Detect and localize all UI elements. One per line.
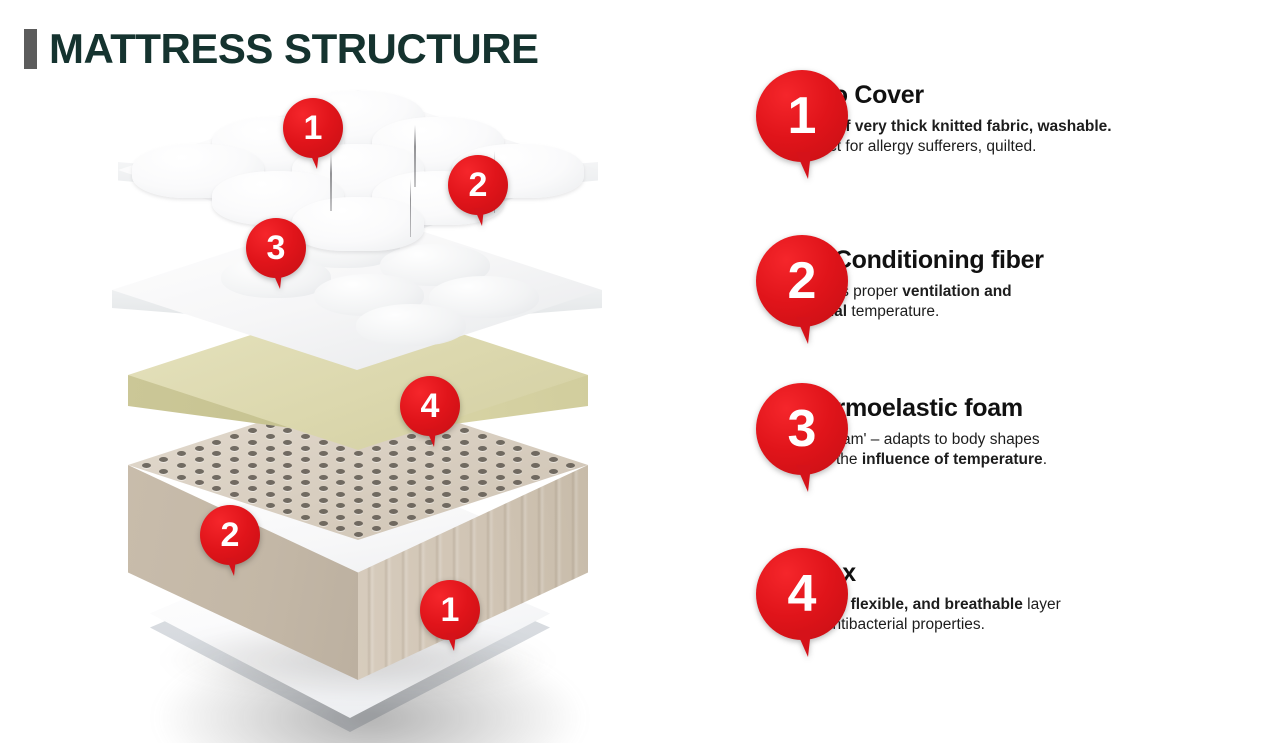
latex-hole <box>478 457 487 462</box>
layer-quilted-top <box>118 90 598 255</box>
latex-hole <box>301 457 310 462</box>
diagram-pin-4-label: 4 <box>421 389 440 423</box>
latex-hole <box>407 492 416 497</box>
latex-hole <box>478 492 487 497</box>
latex-hole <box>496 451 505 456</box>
latex-hole <box>425 486 434 491</box>
latex-hole <box>301 446 310 451</box>
diagram-pin-2-label: 2 <box>469 168 488 202</box>
latex-hole <box>177 463 186 468</box>
latex-hole <box>336 457 345 462</box>
fiber-puff <box>356 304 466 346</box>
latex-hole <box>283 509 292 514</box>
latex-hole <box>336 446 345 451</box>
legend-desc-2-bold-a: ventilation and <box>902 283 1011 300</box>
latex-hole <box>301 480 310 485</box>
latex-hole <box>283 440 292 445</box>
latex-hole <box>301 503 310 508</box>
latex-hole <box>372 457 381 462</box>
latex-hole <box>496 486 505 491</box>
latex-hole <box>266 446 275 451</box>
latex-hole <box>212 440 221 445</box>
latex-hole <box>266 503 275 508</box>
latex-hole <box>177 451 186 456</box>
quilt-pillow <box>292 197 424 251</box>
latex-hole <box>425 463 434 468</box>
latex-hole <box>407 480 416 485</box>
latex-hole <box>354 521 363 526</box>
latex-hole <box>195 480 204 485</box>
latex-hole <box>478 469 487 474</box>
latex-hole <box>230 492 239 497</box>
latex-hole <box>389 521 398 526</box>
latex-hole <box>177 475 186 480</box>
latex-hole <box>266 492 275 497</box>
latex-hole <box>336 469 345 474</box>
latex-hole <box>230 457 239 462</box>
diagram-pin-3-foam[interactable]: 3 <box>246 218 306 278</box>
latex-hole <box>389 451 398 456</box>
latex-hole <box>248 440 257 445</box>
latex-hole <box>319 451 328 456</box>
latex-hole <box>460 440 469 445</box>
latex-hole <box>407 457 416 462</box>
legend-pin-2-label: 2 <box>788 255 817 307</box>
latex-hole <box>354 498 363 503</box>
latex-hole <box>425 451 434 456</box>
latex-hole <box>496 440 505 445</box>
latex-hole <box>460 486 469 491</box>
latex-hole <box>442 457 451 462</box>
latex-hole <box>354 475 363 480</box>
latex-hole <box>319 440 328 445</box>
latex-hole <box>159 469 168 474</box>
latex-hole <box>319 486 328 491</box>
latex-hole <box>230 469 239 474</box>
latex-hole <box>354 532 363 537</box>
latex-hole <box>354 509 363 514</box>
legend-pin-1[interactable]: 1 <box>756 70 848 162</box>
latex-hole <box>407 469 416 474</box>
latex-hole <box>442 480 451 485</box>
latex-hole <box>336 492 345 497</box>
latex-hole <box>425 498 434 503</box>
latex-hole <box>248 463 257 468</box>
latex-hole <box>230 446 239 451</box>
diagram-pin-2-fiber-bottom[interactable]: 2 <box>200 505 260 565</box>
latex-hole <box>460 463 469 468</box>
latex-hole <box>425 475 434 480</box>
legend-item-air-conditioning-fiber[interactable]: 2 Air-Conditioning fiber Ensures proper … <box>756 235 1044 323</box>
latex-hole <box>389 486 398 491</box>
latex-hole <box>513 469 522 474</box>
latex-hole <box>513 457 522 462</box>
legend-pin-1-label: 1 <box>788 90 817 142</box>
latex-hole <box>389 498 398 503</box>
latex-hole <box>212 475 221 480</box>
mattress-diagram: 1 2 3 4 2 1 <box>0 60 700 743</box>
latex-hole <box>354 486 363 491</box>
latex-hole <box>442 469 451 474</box>
diagram-pin-1-top-cover[interactable]: 1 <box>283 98 343 158</box>
latex-hole <box>319 509 328 514</box>
latex-hole <box>478 480 487 485</box>
latex-hole <box>266 480 275 485</box>
latex-hole <box>248 451 257 456</box>
legend-desc-3-post: . <box>1043 451 1047 468</box>
latex-hole <box>425 509 434 514</box>
diagram-pin-5-label: 2 <box>221 518 240 552</box>
latex-hole <box>372 492 381 497</box>
latex-hole <box>230 480 239 485</box>
latex-hole <box>283 463 292 468</box>
legend-pin-4[interactable]: 4 <box>756 548 848 640</box>
latex-hole <box>442 446 451 451</box>
latex-hole <box>478 446 487 451</box>
diagram-pin-2-fiber-top[interactable]: 2 <box>448 155 508 215</box>
latex-hole <box>549 457 558 462</box>
latex-hole <box>319 498 328 503</box>
latex-hole <box>460 451 469 456</box>
latex-hole <box>372 503 381 508</box>
latex-hole <box>407 515 416 520</box>
legend-item-thermoelastic-foam[interactable]: 3 Thermoelastic foam Lazy foam' – adapts… <box>756 383 1047 471</box>
latex-hole <box>531 451 540 456</box>
latex-hole <box>266 457 275 462</box>
latex-hole <box>442 492 451 497</box>
latex-hole <box>195 457 204 462</box>
latex-hole <box>372 515 381 520</box>
legend-desc-4-post: layer <box>1023 596 1061 613</box>
latex-hole <box>159 457 168 462</box>
latex-hole <box>195 446 204 451</box>
latex-hole <box>248 486 257 491</box>
latex-hole <box>301 515 310 520</box>
latex-hole <box>212 463 221 468</box>
latex-hole <box>513 446 522 451</box>
legend-pin-4-label: 4 <box>788 568 817 620</box>
latex-hole <box>372 469 381 474</box>
quilt-seam <box>410 179 412 237</box>
latex-hole <box>372 480 381 485</box>
latex-hole <box>407 446 416 451</box>
legend-item-latex[interactable]: 4 Latex Elastic, flexible, and breathabl… <box>756 548 1061 636</box>
latex-hole <box>336 526 345 531</box>
legend-pin-3[interactable]: 3 <box>756 383 848 475</box>
latex-hole <box>301 492 310 497</box>
latex-hole <box>460 498 469 503</box>
latex-hole <box>248 475 257 480</box>
legend-desc-3-bold: influence of temperature <box>862 451 1043 468</box>
latex-hole <box>336 503 345 508</box>
latex-hole <box>212 486 221 491</box>
latex-hole <box>142 463 151 468</box>
diagram-pin-1-bottom-cover[interactable]: 1 <box>420 580 480 640</box>
latex-hole <box>513 480 522 485</box>
latex-hole <box>531 475 540 480</box>
latex-hole <box>354 451 363 456</box>
latex-hole <box>372 446 381 451</box>
latex-hole <box>566 463 575 468</box>
latex-hole <box>266 469 275 474</box>
latex-hole <box>442 503 451 508</box>
diagram-pin-6-label: 1 <box>441 593 460 627</box>
latex-hole <box>195 469 204 474</box>
latex-hole <box>283 498 292 503</box>
latex-hole <box>212 451 221 456</box>
legend-pin-2[interactable]: 2 <box>756 235 848 327</box>
legend-pin-3-label: 3 <box>788 403 817 455</box>
latex-hole <box>336 480 345 485</box>
latex-hole <box>319 475 328 480</box>
legend-desc-2-post: temperature. <box>847 303 939 320</box>
latex-hole <box>389 475 398 480</box>
diagram-pin-4-latex[interactable]: 4 <box>400 376 460 436</box>
latex-hole <box>389 440 398 445</box>
latex-hole <box>460 475 469 480</box>
latex-hole <box>319 521 328 526</box>
latex-hole <box>372 526 381 531</box>
diagram-pin-1-label: 1 <box>304 111 323 145</box>
quilt-seam <box>330 153 332 211</box>
latex-hole <box>319 463 328 468</box>
diagram-pin-3-label: 3 <box>267 231 286 265</box>
latex-hole <box>389 509 398 514</box>
latex-hole <box>283 475 292 480</box>
legend-item-aero-cover[interactable]: 1 Aero Cover Made of very thick knitted … <box>756 70 1112 158</box>
quilt-seam <box>414 125 416 187</box>
latex-hole <box>549 469 558 474</box>
latex-hole <box>531 463 540 468</box>
latex-hole <box>496 475 505 480</box>
latex-hole <box>496 463 505 468</box>
latex-hole <box>354 463 363 468</box>
latex-hole <box>283 451 292 456</box>
latex-hole <box>389 463 398 468</box>
latex-hole <box>407 503 416 508</box>
latex-hole <box>248 498 257 503</box>
latex-hole <box>283 486 292 491</box>
latex-hole <box>336 515 345 520</box>
latex-hole <box>301 469 310 474</box>
